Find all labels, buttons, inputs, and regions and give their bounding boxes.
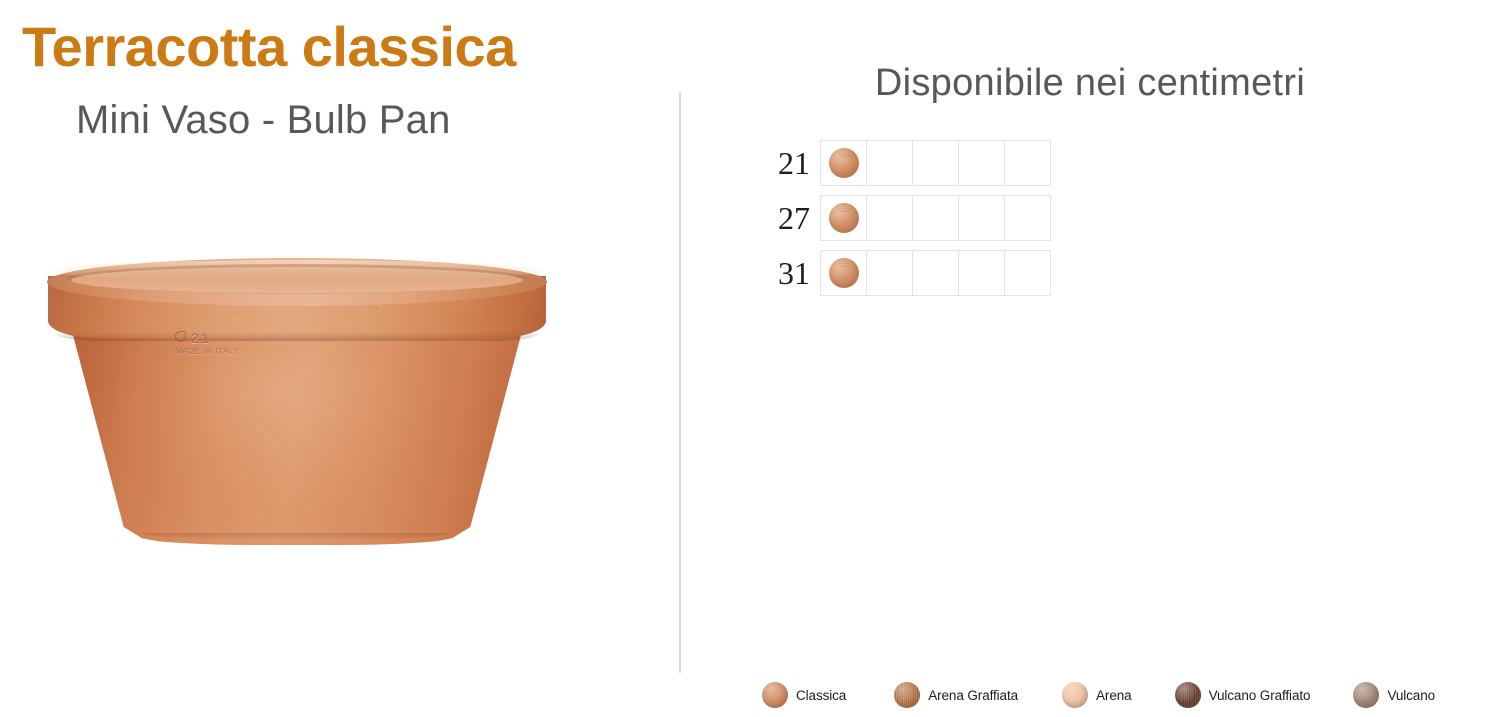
product-panel: Terracotta classica Mini Vaso - Bulb Pan… xyxy=(0,0,679,717)
legend-swatch xyxy=(762,682,788,708)
size-cell-empty[interactable] xyxy=(912,140,959,186)
size-cell-empty[interactable] xyxy=(958,250,1005,296)
page-title: Terracotta classica xyxy=(22,18,516,77)
size-cell-available[interactable] xyxy=(820,250,867,296)
product-image: 21 MADE IN ITALY xyxy=(47,258,547,548)
size-row: 27 xyxy=(754,195,1051,241)
legend-swatch xyxy=(1062,682,1088,708)
size-label: 21 xyxy=(754,147,820,179)
pot-body-shading xyxy=(69,320,525,545)
maker-mark-icon xyxy=(175,331,186,342)
product-subtitle: Mini Vaso - Bulb Pan xyxy=(76,98,451,142)
legend-swatch xyxy=(1175,682,1201,708)
pot-embossed-stamp: 21 MADE IN ITALY xyxy=(175,330,285,362)
size-cells xyxy=(820,250,1051,296)
size-cell-available[interactable] xyxy=(820,195,867,241)
pot-rim-highlight xyxy=(53,260,541,282)
pot-stamp-size-line: 21 xyxy=(175,330,285,346)
size-availability-table: 212731 xyxy=(754,140,1051,305)
size-label: 27 xyxy=(754,202,820,234)
finish-swatch-dot xyxy=(829,203,859,233)
size-cell-empty[interactable] xyxy=(912,195,959,241)
legend-item[interactable]: Classica xyxy=(762,682,846,708)
pot-stamp-size: 21 xyxy=(191,330,211,346)
legend-item[interactable]: Vulcano xyxy=(1353,682,1435,708)
finish-swatch-dot xyxy=(829,258,859,288)
legend-item[interactable]: Arena Graffiata xyxy=(894,682,1018,708)
size-cell-empty[interactable] xyxy=(1004,250,1051,296)
size-label: 31 xyxy=(754,257,820,289)
legend-label: Arena Graffiata xyxy=(928,688,1018,703)
size-cells xyxy=(820,195,1051,241)
size-cell-empty[interactable] xyxy=(866,250,913,296)
size-cell-empty[interactable] xyxy=(958,195,1005,241)
size-cells xyxy=(820,140,1051,186)
pot-collar-shadow xyxy=(53,332,541,341)
size-cell-empty[interactable] xyxy=(1004,140,1051,186)
size-cell-empty[interactable] xyxy=(866,195,913,241)
size-row: 21 xyxy=(754,140,1051,186)
finish-legend: ClassicaArena GraffiataArenaVulcano Graf… xyxy=(762,682,1492,708)
product-sheet-page: Terracotta classica Mini Vaso - Bulb Pan… xyxy=(0,0,1499,717)
legend-swatch xyxy=(894,682,920,708)
finish-swatch-dot xyxy=(829,148,859,178)
legend-label: Vulcano xyxy=(1387,688,1435,703)
size-cell-empty[interactable] xyxy=(1004,195,1051,241)
size-cell-empty[interactable] xyxy=(866,140,913,186)
pot-stamp-origin: MADE IN ITALY xyxy=(175,346,285,357)
size-cell-empty[interactable] xyxy=(912,250,959,296)
legend-label: Classica xyxy=(796,688,846,703)
legend-label: Arena xyxy=(1096,688,1132,703)
sizes-heading: Disponibile nei centimetri xyxy=(830,62,1350,105)
size-row: 31 xyxy=(754,250,1051,296)
legend-item[interactable]: Vulcano Graffiato xyxy=(1175,682,1311,708)
legend-item[interactable]: Arena xyxy=(1062,682,1132,708)
size-cell-empty[interactable] xyxy=(958,140,1005,186)
size-cell-available[interactable] xyxy=(820,140,867,186)
legend-swatch xyxy=(1353,682,1379,708)
sizes-panel: Disponibile nei centimetri 212731 Classi… xyxy=(679,0,1499,717)
legend-label: Vulcano Graffiato xyxy=(1209,688,1311,703)
